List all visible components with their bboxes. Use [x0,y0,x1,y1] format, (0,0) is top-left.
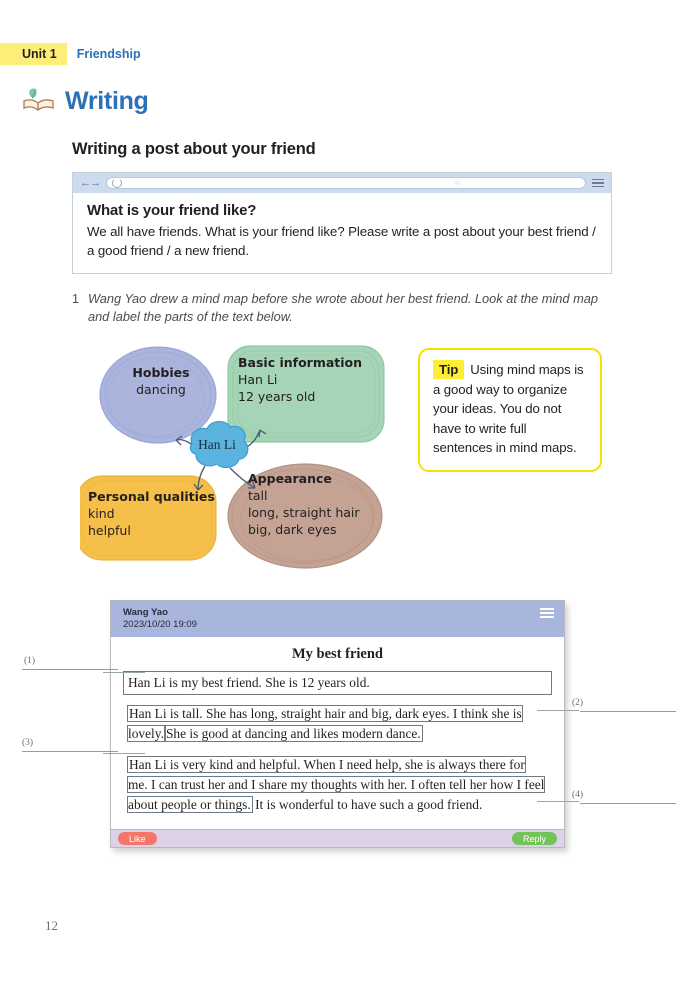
node-line: kind [88,505,215,522]
post-author: Wang Yao [123,607,197,619]
node-line: dancing [108,381,214,398]
answer-slot-2[interactable]: (2) [572,698,668,712]
answer-label-2: (2) [572,698,668,708]
node-line: 12 years old [238,388,362,405]
node-heading: Personal qualities [88,488,215,505]
answer-label-3: (3) [22,738,118,748]
tip-badge: Tip [433,360,464,379]
node-line: tall [248,487,360,504]
answer-rule-1[interactable] [22,669,118,670]
page-number: 12 [45,918,58,934]
post-paragraph-1: Han Li is my best friend. She is 12 year… [124,672,551,694]
node-heading: Basic information [238,354,362,371]
like-button[interactable]: Like [118,832,157,845]
node-line: helpful [88,522,215,539]
node-line: big, dark eyes [248,521,360,538]
post-header: Wang Yao 2023/10/20 19:09 [111,601,564,637]
open-book-leaf-icon [22,86,56,117]
section-title: Writing [65,87,149,116]
post-timestamp: 2023/10/20 19:09 [123,619,197,631]
leader-line-2 [537,710,579,711]
post-paragraph-2-rest: She is good at dancing and likes modern … [165,726,422,741]
answer-slot-1[interactable]: (1) [22,656,118,670]
mindmap-label-personal-qualities: Personal qualities kind helpful [88,488,215,539]
post-author-block: Wang Yao 2023/10/20 19:09 [123,607,197,631]
hamburger-menu-icon[interactable] [592,179,604,188]
mindmap-label-basic-information: Basic information Han Li 12 years old [238,354,362,405]
leader-line-1 [103,672,145,673]
mind-map: Hobbies dancing Basic information Han Li… [80,340,420,580]
hamburger-menu-icon[interactable] [540,608,554,618]
unit-topic: Friendship [77,47,141,61]
post-paragraph-3-rest: It is wonderful to have such a good frie… [255,797,482,812]
answer-label-4: (4) [572,790,668,800]
back-forward-icon[interactable]: ←→ [80,178,100,189]
mindmap-label-hobbies: Hobbies dancing [108,364,214,398]
node-heading: Hobbies [108,364,214,381]
answer-slot-4[interactable]: (4) [572,790,668,804]
instruction-number: 1 [72,290,79,326]
prompt-body: We all have friends. What is your friend… [87,222,597,260]
task-title: Writing a post about your friend [72,140,316,159]
post-card: Wang Yao 2023/10/20 19:09 My best friend… [110,600,565,848]
tip-box: TipUsing mind maps is a good way to orga… [418,348,602,472]
post-body: My best friend Han Li is my best friend.… [111,637,564,829]
post-title: My best friend [124,646,551,663]
answer-slot-3[interactable]: (3) [22,738,118,752]
node-line: Han Li [238,371,362,388]
node-line: long, straight hair [248,504,360,521]
section-header: Writing [22,86,149,117]
browser-prompt-card: ←→ ☆ What is your friend like? We all ha… [72,172,612,274]
prompt-heading: What is your friend like? [87,202,597,219]
answer-rule-4[interactable] [580,803,676,804]
instruction-1: 1 Wang Yao drew a mind map before she wr… [72,290,614,326]
leader-line-4 [537,801,579,802]
reload-icon[interactable] [112,178,122,188]
unit-bar: Unit 1 Friendship [0,43,141,65]
answer-rule-3[interactable] [22,751,118,752]
url-input[interactable]: ☆ [106,177,586,189]
instruction-text: Wang Yao drew a mind map before she wrot… [88,290,614,326]
answer-rule-2[interactable] [580,711,676,712]
leader-line-3 [103,753,145,754]
unit-label: Unit 1 [0,43,67,65]
answer-label-1: (1) [24,656,118,666]
mindmap-label-appearance: Appearance tall long, straight hair big,… [248,470,360,538]
post-paragraph-3: Han Li is very kind and helpful. When I … [124,754,551,816]
post-footer: Like Reply [111,829,564,847]
browser-content: What is your friend like? We all have fr… [73,193,611,273]
mindmap-center-label: Han Li [185,436,249,453]
bookmark-star-icon[interactable]: ☆ [454,179,461,187]
node-heading: Appearance [248,470,360,487]
reply-button[interactable]: Reply [512,832,557,845]
post-paragraph-2: Han Li is tall. She has long, straight h… [124,703,551,745]
browser-toolbar: ←→ ☆ [73,173,611,193]
tip-body: TipUsing mind maps is a good way to orga… [433,360,587,458]
